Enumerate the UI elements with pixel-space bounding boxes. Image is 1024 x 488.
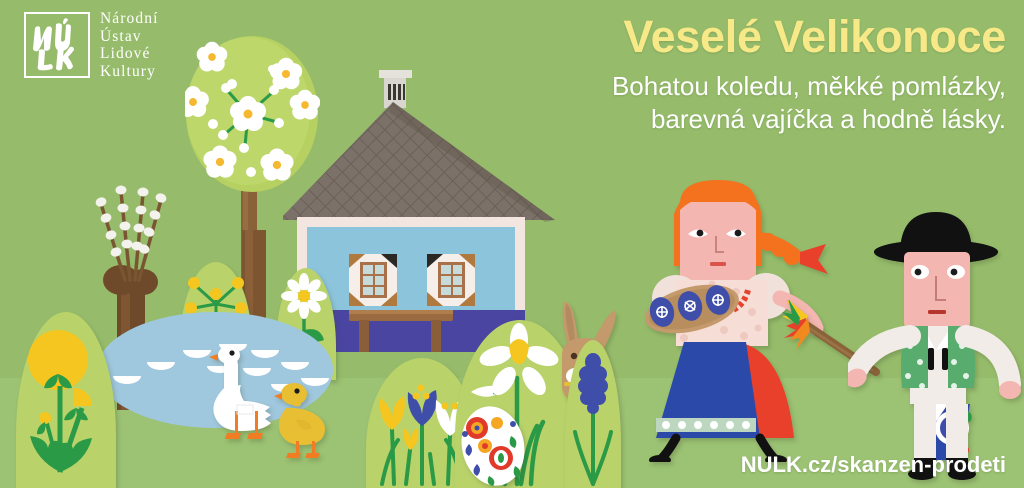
grape-hyacinth-blooms (578, 353, 608, 414)
window-left (349, 254, 397, 306)
subtitle-line-2: barevná vajíčka a hodně lásky. (446, 103, 1006, 136)
braid (758, 233, 828, 274)
nulk-logo-words: Národní Ústav Lidové Kultury (100, 10, 250, 80)
chimney (379, 70, 412, 108)
hair-ribbon (800, 244, 828, 274)
subtitle-line-1: Bohatou koledu, měkké pomlázky, (446, 70, 1006, 103)
goose (205, 345, 275, 450)
logo-line-2: Ústav (100, 28, 250, 46)
headline-block: Veselé Velikonoce Bohatou koledu, měkké … (446, 12, 1006, 136)
page-title: Veselé Velikonoce (446, 12, 1006, 62)
dandelion-panel (16, 312, 116, 488)
crocus-yellow (380, 396, 405, 430)
nulk-logo[interactable]: Národní Ústav Lidové Kultury (24, 8, 254, 88)
nulk-logo-mark (24, 12, 90, 78)
website-url[interactable]: NULK.cz/skanzen-prodeti (741, 452, 1006, 478)
pomlazka-ribbons (782, 300, 810, 350)
logo-line-3: Lidové (100, 45, 250, 63)
decorated-easter-egg (455, 400, 535, 488)
duckling (272, 378, 334, 458)
window-right (427, 254, 475, 306)
skirt-hem-trim (656, 418, 756, 432)
boy-figure (848, 200, 1024, 480)
subtitle: Bohatou koledu, měkké pomlázky, barevná … (446, 70, 1006, 136)
logo-line-1: Národní (100, 10, 250, 28)
crocus-blue (408, 385, 437, 427)
hyacinth-panel (565, 340, 621, 488)
easter-greeting-poster: Národní Ústav Lidové Kultury Veselé Veli… (0, 0, 1024, 488)
logo-line-4: Kultury (100, 63, 250, 81)
